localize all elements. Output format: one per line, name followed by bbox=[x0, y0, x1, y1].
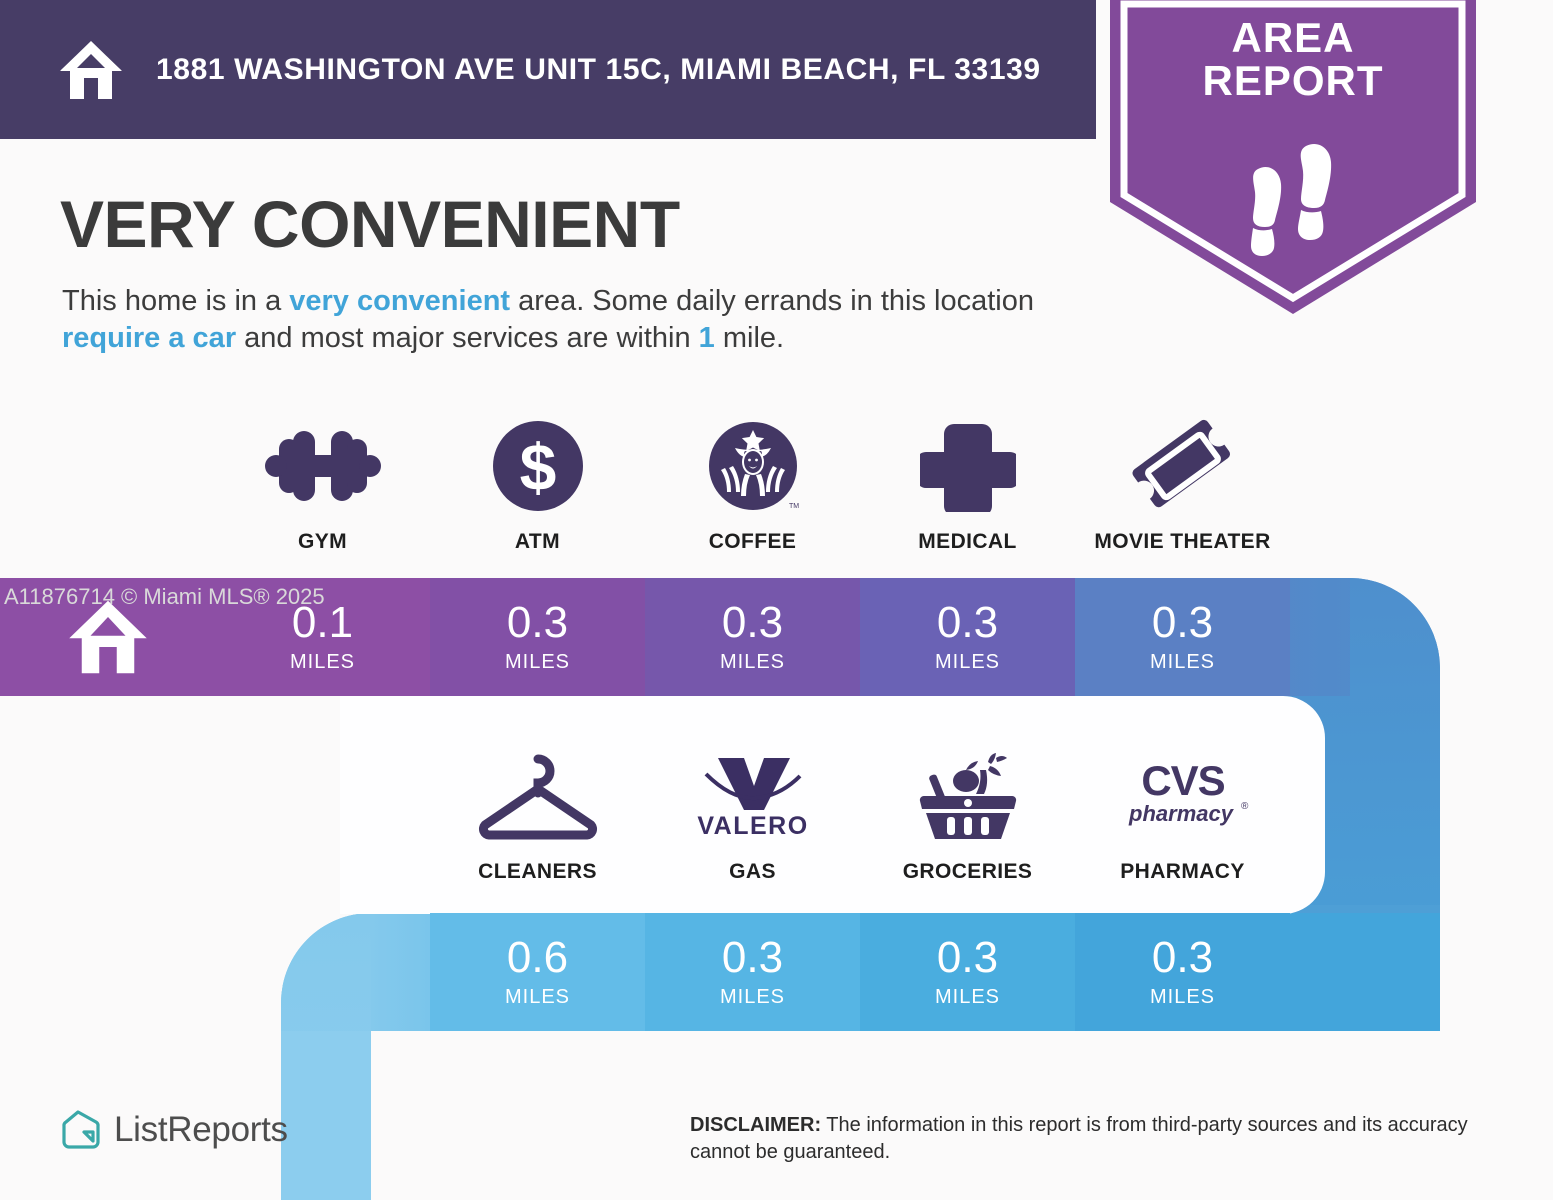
amenity-atm: $ ATM bbox=[430, 418, 645, 554]
distance-unit: MILES bbox=[290, 651, 355, 674]
amenity-label: COFFEE bbox=[709, 530, 797, 554]
intro-part-2: area. Some daily errands in this locatio… bbox=[510, 285, 1034, 317]
area-report-badge: AREA REPORT bbox=[1110, 0, 1476, 314]
svg-text:TM: TM bbox=[789, 503, 799, 510]
distance-groceries: 0.3 MILES bbox=[860, 913, 1075, 1031]
valero-icon: VALERO bbox=[688, 748, 818, 844]
intro-highlight-3: 1 bbox=[699, 322, 715, 354]
amenity-label: GAS bbox=[729, 860, 776, 884]
intro-highlight-2: require a car bbox=[62, 322, 236, 354]
medical-cross-icon bbox=[920, 418, 1016, 514]
amenity-cleaners: CLEANERS bbox=[430, 748, 645, 884]
grocery-basket-icon bbox=[916, 748, 1020, 844]
amenity-icon-row-2: CLEANERS VALERO GAS bbox=[430, 748, 1290, 884]
distance-coffee: 0.3 MILES bbox=[645, 578, 860, 696]
distance-value: 0.3 bbox=[507, 601, 568, 645]
distance-value: 0.3 bbox=[1152, 936, 1213, 980]
svg-text:®: ® bbox=[1241, 801, 1249, 812]
intro-highlight-1: very convenient bbox=[289, 285, 510, 317]
svg-text:$: $ bbox=[519, 430, 556, 504]
home-icon bbox=[58, 38, 124, 102]
distance-value: 0.3 bbox=[1152, 601, 1213, 645]
amenity-movie-theater: MOVIE THEATER bbox=[1075, 418, 1290, 554]
amenity-icon-row-1: GYM $ ATM bbox=[215, 418, 1290, 554]
amenity-label: PHARMACY bbox=[1120, 860, 1245, 884]
distance-unit: MILES bbox=[935, 651, 1000, 674]
distance-unit: MILES bbox=[1150, 651, 1215, 674]
intro-part-1: This home is in a bbox=[62, 285, 289, 317]
listreports-logo-text: ListReports bbox=[114, 1110, 288, 1150]
distance-movie-theater: 0.3 MILES bbox=[1075, 578, 1290, 696]
distance-unit: MILES bbox=[505, 986, 570, 1009]
badge-title: AREA REPORT bbox=[1110, 16, 1476, 103]
property-address: 1881 WASHINGTON AVE UNIT 15C, MIAMI BEAC… bbox=[156, 53, 1041, 87]
intro-part-4: mile. bbox=[715, 322, 784, 354]
amenity-label: MEDICAL bbox=[918, 530, 1016, 554]
amenity-gym: GYM bbox=[215, 418, 430, 554]
distance-atm: 0.3 MILES bbox=[430, 578, 645, 696]
mls-watermark: A11876714 © Miami MLS® 2025 bbox=[4, 584, 325, 610]
amenity-coffee: TM COFFEE bbox=[645, 418, 860, 554]
dollar-circle-icon: $ bbox=[490, 418, 586, 514]
distance-cleaners: 0.6 MILES bbox=[430, 913, 645, 1031]
amenity-label: CLEANERS bbox=[478, 860, 597, 884]
distance-value: 0.3 bbox=[722, 936, 783, 980]
svg-text:pharmacy: pharmacy bbox=[1128, 801, 1235, 826]
area-report-infographic: 1881 WASHINGTON AVE UNIT 15C, MIAMI BEAC… bbox=[0, 0, 1553, 1200]
summary-text: This home is in a very convenient area. … bbox=[62, 283, 1097, 357]
listreports-logo: ListReports bbox=[58, 1108, 288, 1152]
distance-unit: MILES bbox=[935, 986, 1000, 1009]
disclaimer-label: DISCLAIMER: bbox=[690, 1114, 821, 1136]
distance-unit: MILES bbox=[720, 651, 785, 674]
distance-medical: 0.3 MILES bbox=[860, 578, 1075, 696]
distance-unit: MILES bbox=[720, 986, 785, 1009]
starbucks-icon: TM bbox=[705, 418, 801, 514]
amenity-label: MOVIE THEATER bbox=[1094, 530, 1270, 554]
amenity-groceries: GROCERIES bbox=[860, 748, 1075, 884]
intro-part-3: and most major services are within bbox=[236, 322, 699, 354]
amenity-pharmacy: CVS pharmacy ® PHARMACY bbox=[1075, 748, 1290, 884]
dumbbell-icon bbox=[259, 418, 387, 514]
amenity-medical: MEDICAL bbox=[860, 418, 1075, 554]
distance-row-1: 0.1 MILES 0.3 MILES 0.3 MILES 0.3 MILES … bbox=[215, 578, 1290, 696]
distance-value: 0.3 bbox=[937, 936, 998, 980]
listreports-house-tag-icon bbox=[58, 1108, 102, 1152]
amenity-label: GROCERIES bbox=[903, 860, 1033, 884]
amenity-label: GYM bbox=[298, 530, 347, 554]
distance-pharmacy: 0.3 MILES bbox=[1075, 913, 1290, 1031]
badge-line-1: AREA bbox=[1231, 14, 1354, 61]
page-title: VERY CONVENIENT bbox=[60, 186, 680, 262]
amenity-label: ATM bbox=[515, 530, 560, 554]
amenity-gas: VALERO GAS bbox=[645, 748, 860, 884]
header-bar: 1881 WASHINGTON AVE UNIT 15C, MIAMI BEAC… bbox=[0, 0, 1096, 139]
distance-row-2: 0.6 MILES 0.3 MILES 0.3 MILES 0.3 MILES bbox=[430, 913, 1290, 1031]
coat-hanger-icon bbox=[473, 748, 603, 844]
distance-unit: MILES bbox=[505, 651, 570, 674]
distance-gas: 0.3 MILES bbox=[645, 913, 860, 1031]
svg-text:CVS: CVS bbox=[1141, 757, 1224, 804]
distance-unit: MILES bbox=[1150, 986, 1215, 1009]
disclaimer: DISCLAIMER: The information in this repo… bbox=[690, 1112, 1490, 1166]
distance-value: 0.3 bbox=[722, 601, 783, 645]
distance-value: 0.6 bbox=[507, 936, 568, 980]
badge-line-2: REPORT bbox=[1202, 57, 1383, 104]
cvs-pharmacy-icon: CVS pharmacy ® bbox=[1117, 748, 1249, 844]
ticket-icon bbox=[1128, 418, 1238, 514]
distance-value: 0.3 bbox=[937, 601, 998, 645]
svg-text:VALERO: VALERO bbox=[697, 812, 808, 840]
